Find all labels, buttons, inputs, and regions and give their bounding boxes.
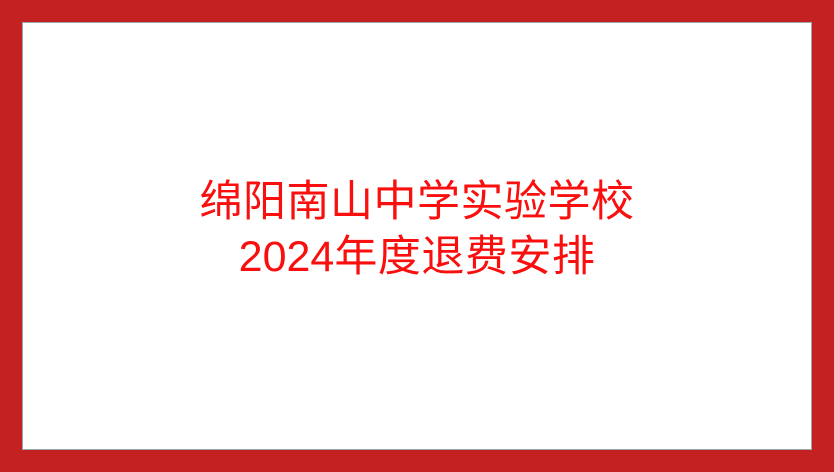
title-line-2-text: 年度退费安排 (334, 234, 595, 281)
slide-inner-panel: 绵阳南山中学实验学校 2024年度退费安排 (22, 22, 812, 450)
title-year: 2024 (239, 233, 335, 281)
title-line-1: 绵阳南山中学实验学校 (23, 175, 811, 230)
title-block: 绵阳南山中学实验学校 2024年度退费安排 (23, 175, 811, 297)
title-line-2: 2024年度退费安排 (23, 230, 811, 285)
slide-canvas: 绵阳南山中学实验学校 2024年度退费安排 (0, 0, 834, 472)
